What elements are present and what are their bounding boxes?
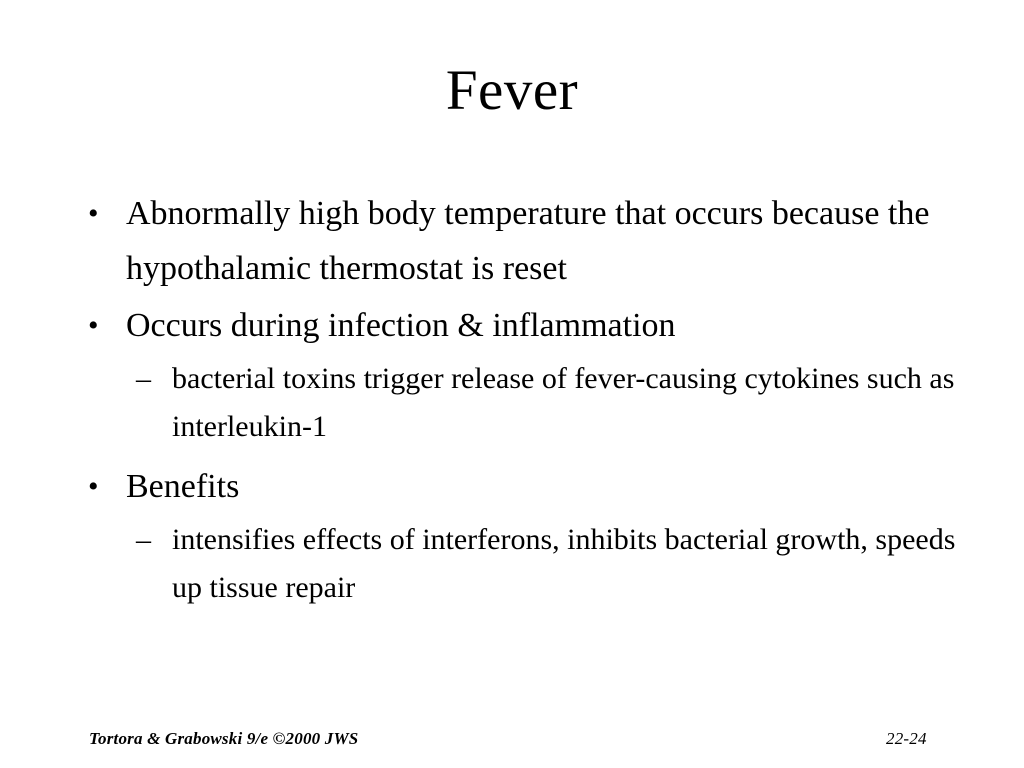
list-item-text: Abnormally high body temperature that oc… xyxy=(126,195,929,287)
dash-marker-icon: – xyxy=(136,516,151,564)
bullet-marker-icon: • xyxy=(88,298,99,353)
list-item-text: Occurs during infection & inflammation xyxy=(126,307,676,344)
slide-body: • Abnormally high body temperature that … xyxy=(84,186,984,616)
footer-credit: Tortora & Grabowski 9/e ©2000 JWS xyxy=(89,729,358,749)
list-item: • Occurs during infection & inflammation xyxy=(84,298,984,353)
dash-marker-icon: – xyxy=(136,355,151,403)
sub-list-item-text: bacterial toxins trigger release of feve… xyxy=(172,362,954,443)
list-item: • Abnormally high body temperature that … xyxy=(84,186,984,296)
slide: Fever • Abnormally high body temperature… xyxy=(0,0,1024,768)
list-item-text: Benefits xyxy=(126,468,239,505)
footer-page-number: 22-24 xyxy=(886,729,927,749)
sub-list-item: – intensifies effects of interferons, in… xyxy=(84,516,984,612)
sub-list-item-text: intensifies effects of interferons, inhi… xyxy=(172,523,955,604)
bullet-marker-icon: • xyxy=(88,186,99,241)
page-title: Fever xyxy=(0,60,1024,122)
sub-list-item: – bacterial toxins trigger release of fe… xyxy=(84,355,984,451)
list-item: • Benefits xyxy=(84,459,984,514)
bullet-marker-icon: • xyxy=(88,459,99,514)
